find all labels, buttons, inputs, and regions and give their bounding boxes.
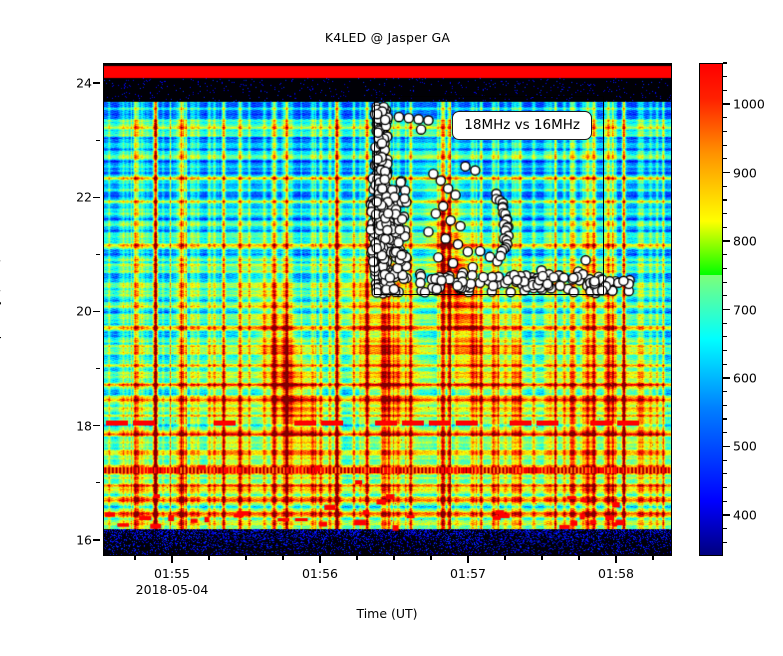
colorbar-tick-label-1000: 1000 bbox=[733, 97, 765, 112]
y-tick-minor-23 bbox=[96, 140, 100, 141]
colorbar-tick-minor bbox=[723, 213, 727, 214]
colorbar-tick-minor bbox=[723, 254, 727, 255]
x-tick-minor bbox=[541, 556, 542, 560]
colorbar bbox=[699, 63, 723, 556]
colorbar-tick-minor bbox=[723, 501, 727, 502]
x-tick-major-2 bbox=[467, 556, 468, 563]
x-tick-label-2: 01:57 bbox=[450, 566, 486, 581]
y-tick-major-18 bbox=[93, 425, 100, 426]
plot-title: K4LED @ Jasper GA bbox=[103, 30, 672, 45]
y-tick-minor-17 bbox=[96, 482, 100, 483]
x-axis-label: Time (UT) bbox=[356, 606, 417, 621]
colorbar-tick-label-600: 600 bbox=[733, 370, 757, 385]
annotation-label: 18MHz vs 16MHz bbox=[452, 111, 592, 140]
x-tick-minor bbox=[134, 556, 135, 560]
colorbar-tick-900 bbox=[723, 172, 730, 173]
colorbar-tick-minor bbox=[723, 186, 727, 187]
x-tick-label-0: 01:55 bbox=[154, 566, 190, 581]
x-tick-minor bbox=[356, 556, 357, 560]
y-tick-major-24 bbox=[93, 82, 100, 83]
y-tick-label-20: 20 bbox=[76, 304, 92, 319]
colorbar-tick-minor bbox=[723, 336, 727, 337]
colorbar-tick-label-800: 800 bbox=[733, 234, 757, 249]
y-tick-minor-21 bbox=[96, 254, 100, 255]
y-tick-minor-19 bbox=[96, 368, 100, 369]
colorbar-tick-minor bbox=[723, 62, 727, 63]
y-tick-major-22 bbox=[93, 197, 100, 198]
colorbar-tick-minor bbox=[723, 131, 727, 132]
x-tick-label-1: 01:56 bbox=[302, 566, 338, 581]
colorbar-tick-minor bbox=[723, 282, 727, 283]
colorbar-tick-minor bbox=[723, 418, 727, 419]
colorbar-tick-minor bbox=[723, 227, 727, 228]
colorbar-tick-minor bbox=[723, 542, 727, 543]
x-tick-major-1 bbox=[319, 556, 320, 563]
x-tick-minor bbox=[578, 556, 579, 560]
colorbar-tick-1000 bbox=[723, 103, 730, 104]
x-tick-minor bbox=[504, 556, 505, 560]
colorbar-tick-minor bbox=[723, 364, 727, 365]
colorbar-tick-minor bbox=[723, 350, 727, 351]
colorbar-tick-label-400: 400 bbox=[733, 507, 757, 522]
colorbar-tick-minor bbox=[723, 528, 727, 529]
colorbar-tick-minor bbox=[723, 473, 727, 474]
x-tick-label-3: 01:58 bbox=[598, 566, 634, 581]
x-tick-minor bbox=[245, 556, 246, 560]
y-tick-label-18: 18 bbox=[76, 418, 92, 433]
colorbar-tick-minor bbox=[723, 295, 727, 296]
colorbar-tick-700 bbox=[723, 309, 730, 310]
colorbar-tick-minor bbox=[723, 76, 727, 77]
x-tick-minor bbox=[430, 556, 431, 560]
colorbar-tick-minor bbox=[723, 158, 727, 159]
colorbar-tick-400 bbox=[723, 514, 730, 515]
x-tick-minor bbox=[652, 556, 653, 560]
colorbar-tick-minor bbox=[723, 405, 727, 406]
colorbar-tick-minor bbox=[723, 323, 727, 324]
colorbar-tick-minor bbox=[723, 145, 727, 146]
x-tick-major-3 bbox=[615, 556, 616, 563]
colorbar-tick-minor bbox=[723, 460, 727, 461]
colorbar-tick-minor bbox=[723, 487, 727, 488]
colorbar-tick-minor bbox=[723, 391, 727, 392]
x-tick-minor bbox=[208, 556, 209, 560]
x-tick-minor bbox=[282, 556, 283, 560]
figure-canvas: K4LED @ Jasper GA Frequency (MHz) Time (… bbox=[0, 0, 783, 656]
y-tick-label-16: 16 bbox=[76, 533, 92, 548]
colorbar-tick-600 bbox=[723, 377, 730, 378]
colorbar-tick-label-900: 900 bbox=[733, 165, 757, 180]
y-tick-label-22: 22 bbox=[76, 190, 92, 205]
y-tick-label-24: 24 bbox=[76, 75, 92, 90]
x-tick-minor bbox=[393, 556, 394, 560]
colorbar-tick-minor bbox=[723, 268, 727, 269]
colorbar-tick-minor bbox=[723, 90, 727, 91]
y-tick-major-20 bbox=[93, 311, 100, 312]
x-tick-major-0 bbox=[171, 556, 172, 563]
colorbar-tick-label-500: 500 bbox=[733, 439, 757, 454]
x-axis-date: 2018-05-04 bbox=[136, 582, 209, 597]
colorbar-tick-minor bbox=[723, 117, 727, 118]
colorbar-tick-500 bbox=[723, 446, 730, 447]
colorbar-tick-800 bbox=[723, 240, 730, 241]
colorbar-tick-minor bbox=[723, 432, 727, 433]
colorbar-tick-label-700: 700 bbox=[733, 302, 757, 317]
y-tick-major-16 bbox=[93, 539, 100, 540]
colorbar-tick-minor bbox=[723, 199, 727, 200]
y-axis-label: Frequency (MHz) bbox=[0, 210, 2, 410]
